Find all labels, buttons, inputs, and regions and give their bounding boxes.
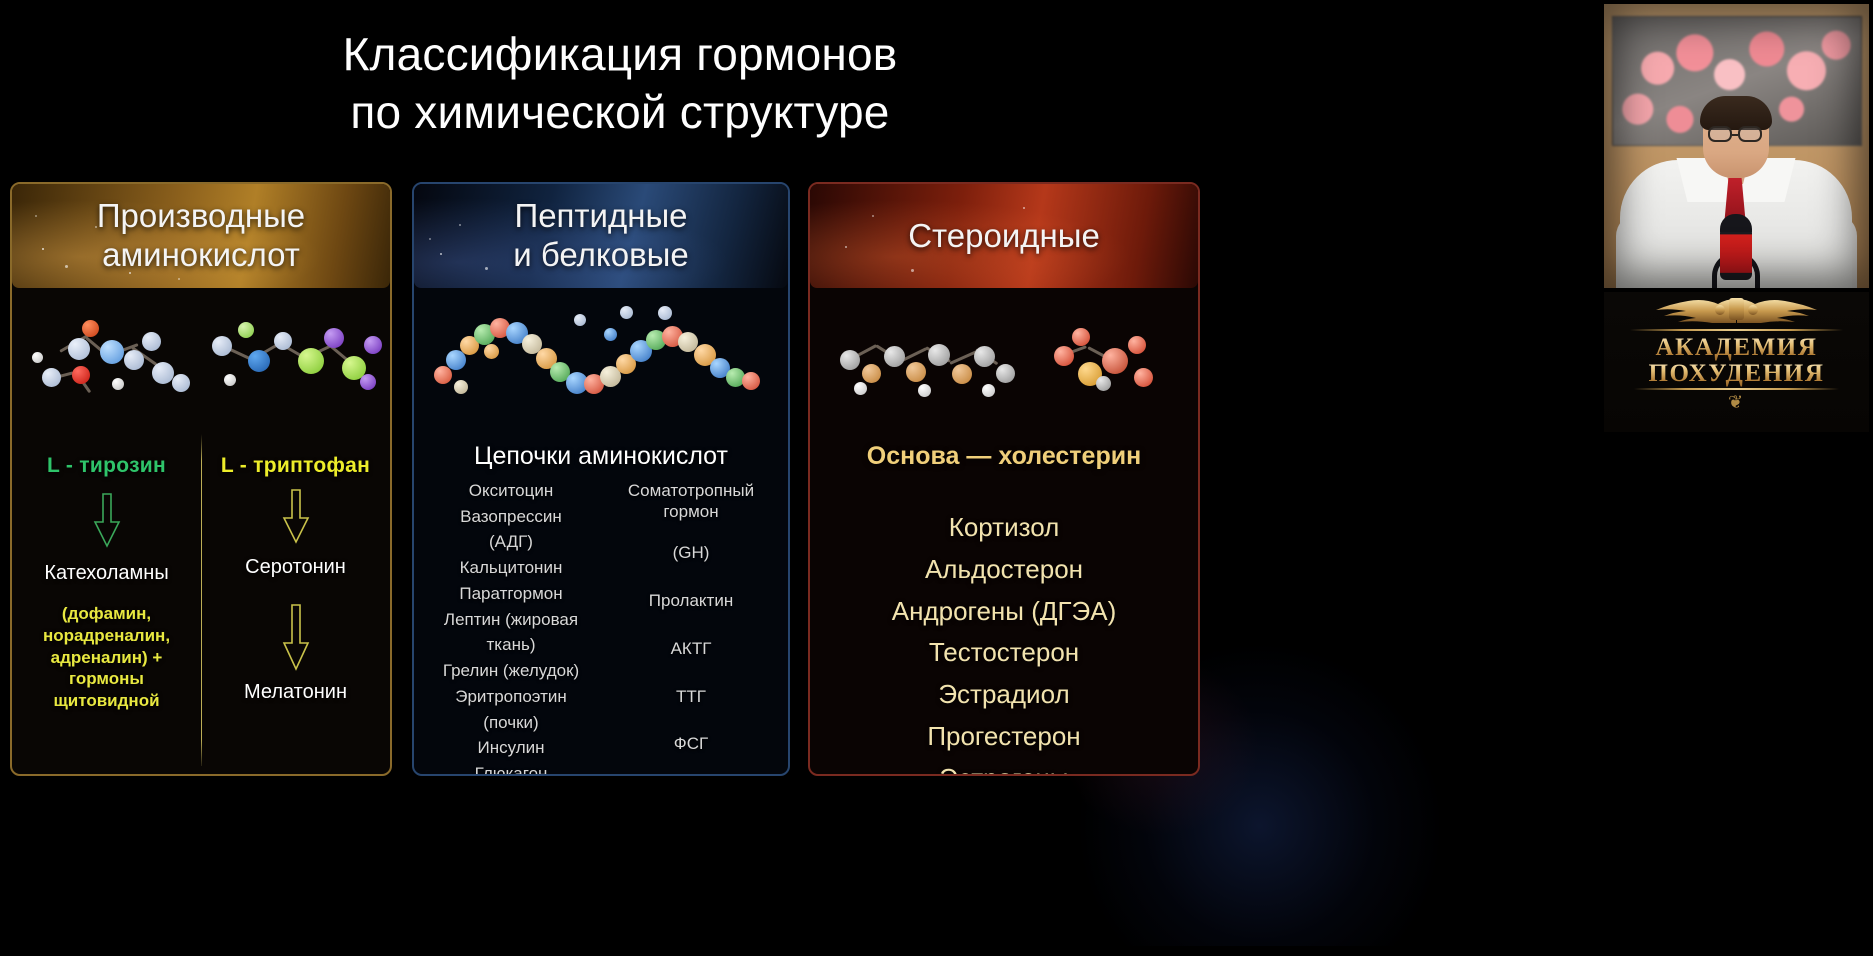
list-item: (АДГ) [422,532,600,553]
list-item: ФСГ [602,734,780,755]
list-item: Кортизол [810,511,1198,545]
list-item: Андрогены (ДГЭА) [810,595,1198,629]
slide-title-line2: по химической структуре [0,84,1240,142]
list-item: Лептин (жировая [422,610,600,631]
peptide-hormone-list-right: Соматотропный гормон(GH)ПролактинАКТГТТГ… [602,481,784,776]
panel3-header-line1: Стероидные [908,217,1100,256]
slide-title-line1: Классификация гормонов [343,28,898,80]
presenter-webcam[interactable] [1604,4,1869,288]
logo-divider-bottom [1634,388,1839,390]
panel-header-peptide-protein: Пептидные и белковые [414,184,788,288]
panel1-header-line2: аминокислот [97,236,305,275]
presenter-hair [1700,96,1772,130]
panel-steroid: Стероидные [808,182,1200,776]
steroid-subtitle: Основа — холестерин [810,442,1198,471]
list-item: Грелин (желудок) [422,661,600,682]
amino-acid-label-tyrosine: L - тирозин [12,454,201,478]
list-item: Прогестерон [810,720,1198,754]
list-item: Паратгормон [422,584,600,605]
catecholamines-detail: (дофамин, норадреналин, адреналин) + гор… [12,603,201,712]
panel1-column-tryptophan: L - триптофан Серотонин Мелато [201,434,390,774]
slide-title: Классификация гормонов по химической стр… [0,26,1240,141]
panel2-header-line2: и белковые [513,236,688,275]
panel2-header-line1: Пептидные [513,197,688,236]
list-item: АКТГ [602,639,780,660]
list-item: Вазопрессин [422,507,600,528]
presenter-glasses-left-lens [1708,126,1732,142]
logo-wings-icon [1604,296,1869,330]
list-item: Кальцитонин [422,558,600,579]
logo-line-1: АКАДЕМИЯ [1604,334,1869,362]
list-item: (GH) [602,543,780,564]
list-item: Глюкагон [422,764,600,776]
arrow-down-yellow-icon-2 [281,603,311,661]
panel1-column-tyrosine: L - тирозин Катехоламны (дофамин, норадр… [12,434,201,774]
molecule-illustration-cholesterol [810,288,1198,434]
arrow-down-green-icon [92,492,122,550]
melatonin-label: Мелатонин [201,681,390,704]
arrow-down-yellow-icon-1 [281,488,311,546]
panel-amino-derivatives: Производные аминокислот [10,182,392,776]
list-item: Пролактин [602,591,780,612]
list-item: Соматотропный гормон [602,481,780,522]
presenter-glasses-bridge [1732,134,1738,136]
panel-peptide-protein: Пептидные и белковые [412,182,790,776]
molecule-illustration-peptide-chain [414,288,788,434]
logo-line-2: ПОХУДЕНИЯ [1604,360,1869,388]
list-item: Окситоцин [422,481,600,502]
serotonin-label: Серотонин [201,556,390,579]
list-item: ткань) [422,635,600,656]
logo-divider-top [1630,329,1843,331]
panel-header-steroid: Стероидные [810,184,1198,288]
amino-acid-label-tryptophan: L - триптофан [201,454,390,478]
list-item: Тестостерон [810,636,1198,670]
list-item: Эритропоэтин [422,687,600,708]
presentation-slide: Классификация гормонов по химической стр… [0,0,1560,956]
molecule-illustration-amino-acids [12,288,390,434]
panel1-header-line1: Производные [97,197,305,236]
list-item: Эстрогены [810,762,1198,776]
logo-ornament-icon: ❦ [1604,392,1869,413]
list-item: Инсулин [422,738,600,759]
list-item: ТТГ [602,687,780,708]
presenter-glasses-right-lens [1738,126,1762,142]
peptide-subtitle: Цепочки аминокислот [414,442,788,471]
peptide-hormone-list-left: ОкситоцинВазопрессин(АДГ)КальцитонинПара… [418,481,600,776]
academy-logo: АКАДЕМИЯ ПОХУДЕНИЯ ❦ [1604,292,1869,432]
steroid-hormone-list: КортизолАльдостеронАндрогены (ДГЭА)Тесто… [810,511,1198,776]
panel-header-amino-derivatives: Производные аминокислот [12,184,390,288]
list-item: Эстрадиол [810,678,1198,712]
list-item: (почки) [422,713,600,734]
list-item: Альдостерон [810,553,1198,587]
catecholamines-label: Катехоламны [12,562,201,585]
